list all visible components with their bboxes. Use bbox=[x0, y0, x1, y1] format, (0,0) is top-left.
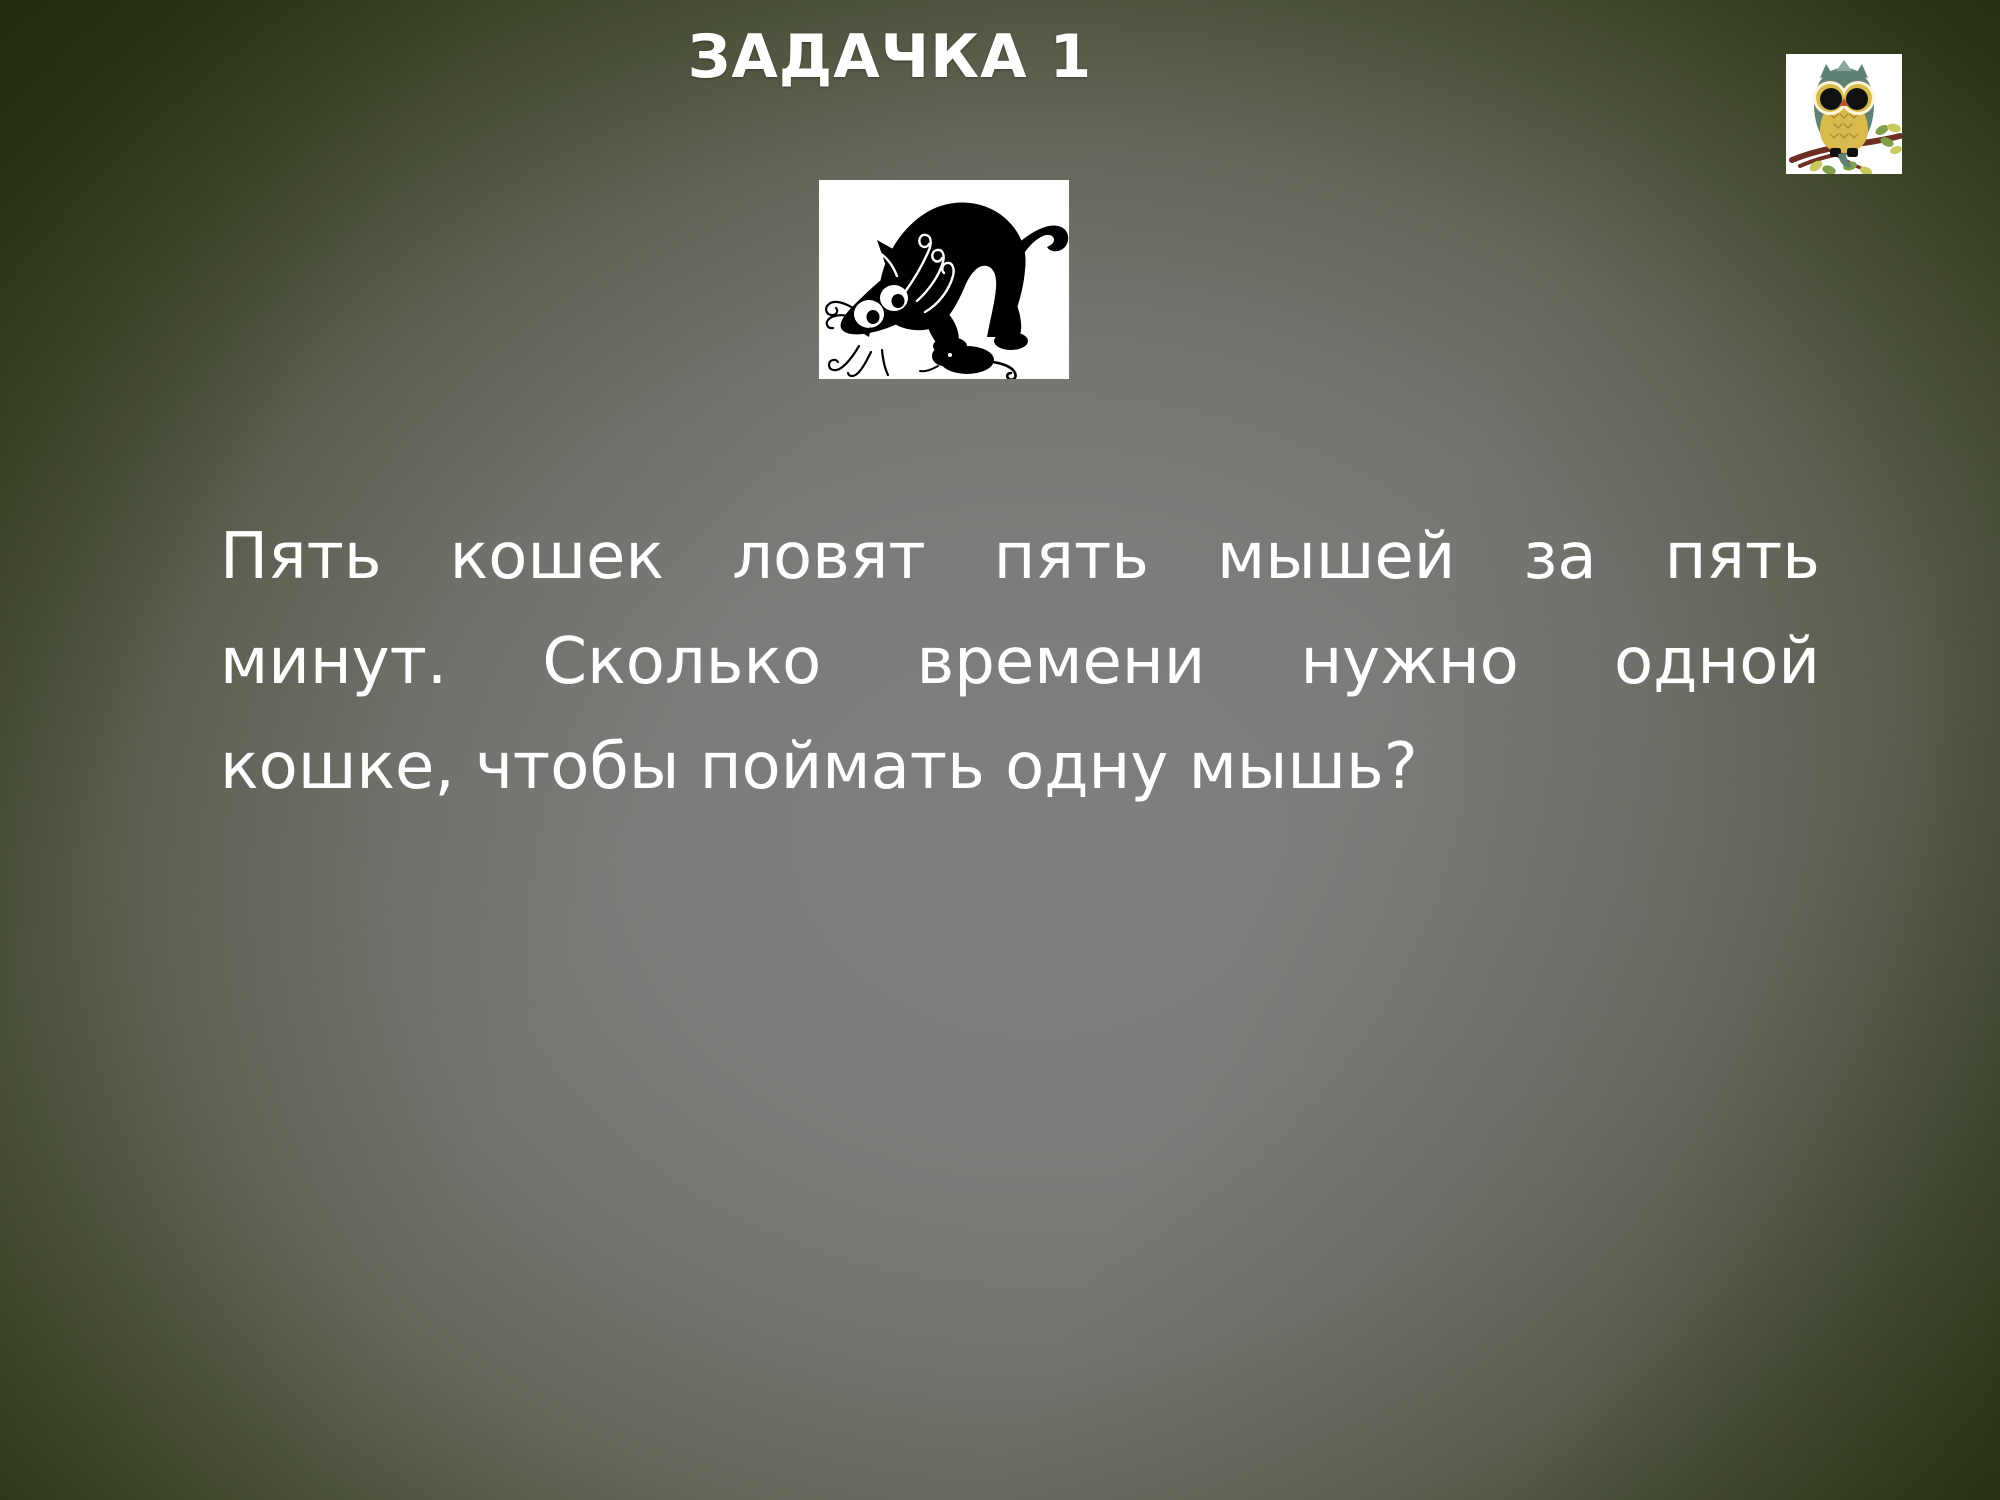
cat-and-mouse-graphic bbox=[819, 180, 1069, 379]
cat-and-mouse-picture bbox=[819, 180, 1069, 379]
presentation-slide: ЗАДАЧКА 1 bbox=[0, 0, 2000, 1500]
page-title: ЗАДАЧКА 1 bbox=[0, 22, 1780, 92]
body-line-1: Пятькошекловятпятьмышейзапять bbox=[220, 505, 1820, 610]
owl-logo-graphic bbox=[1786, 54, 1902, 174]
body-text: Пятькошекловятпятьмышейзапять минут.Скол… bbox=[220, 505, 1820, 820]
body-line-2: минут.Скольковременинужноодной bbox=[220, 610, 1820, 715]
owl-logo bbox=[1786, 54, 1902, 174]
body-line-3: кошке, чтобы поймать одну мышь? bbox=[220, 715, 1820, 820]
